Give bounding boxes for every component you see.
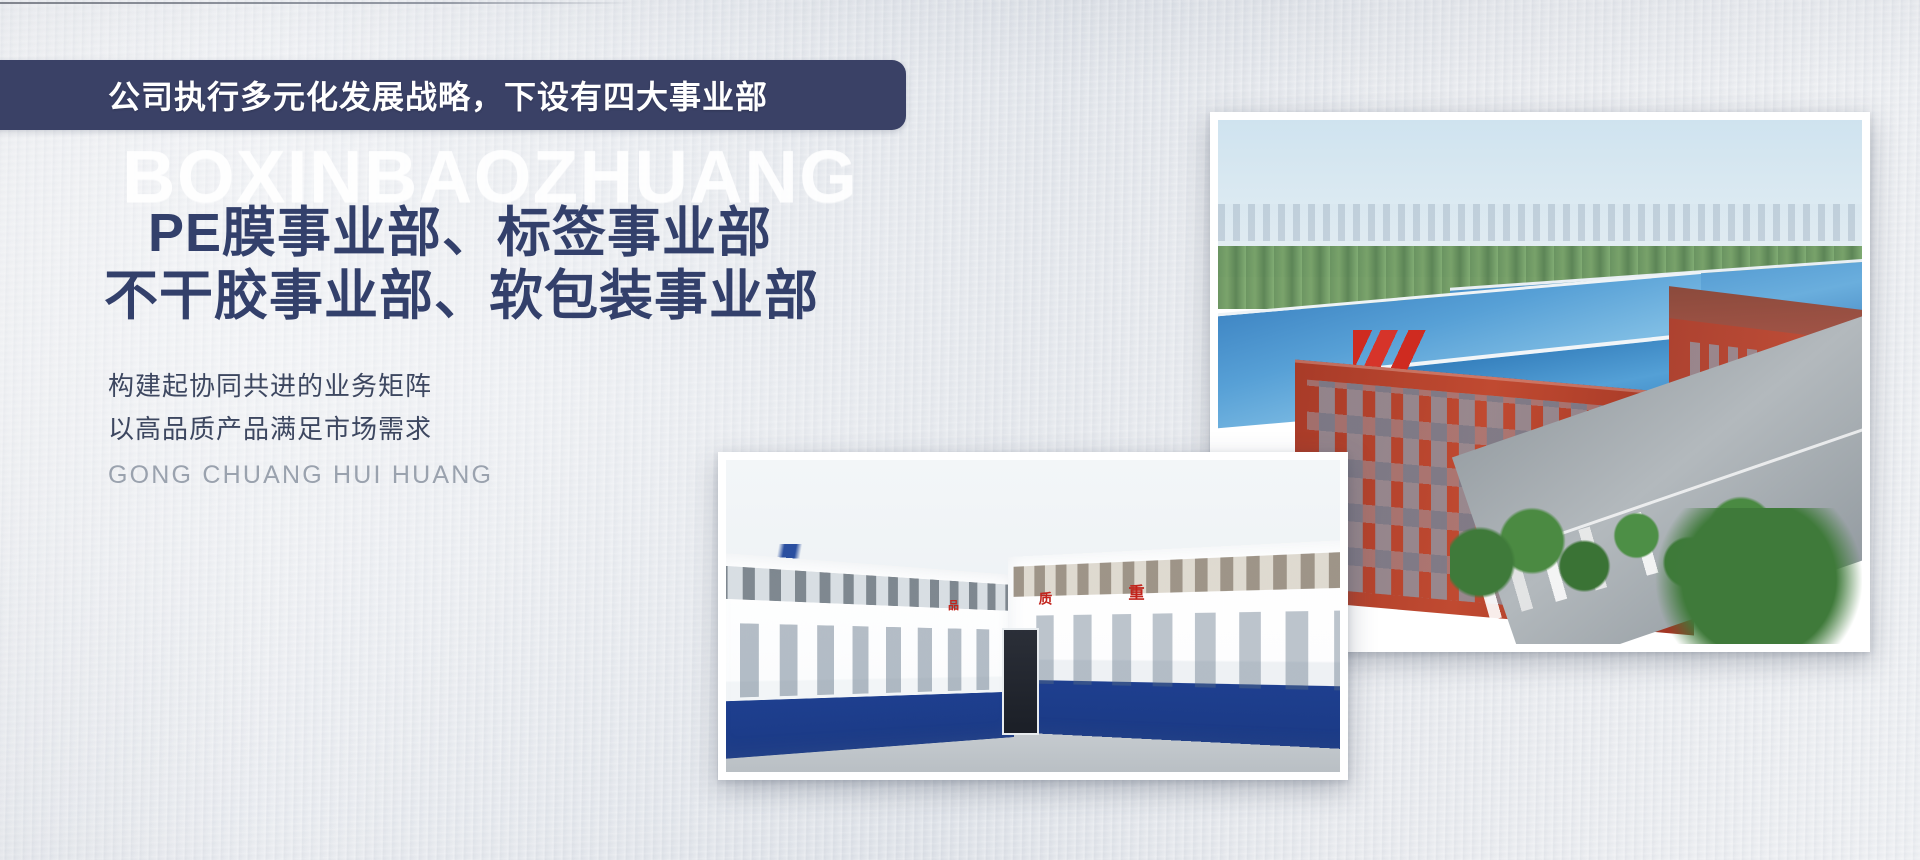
hero-headline: PE膜事业部、标签事业部 不干胶事业部、软包装事业部 [104, 202, 864, 327]
headline-line-1: PE膜事业部、标签事业部 [148, 202, 864, 265]
warehouse-photo-content: 品 质 重 [726, 460, 1340, 772]
workshop-left-facade [726, 552, 1015, 761]
workshop-right-facade [1008, 539, 1340, 750]
trees-bottom-right [1630, 508, 1862, 644]
signage-char-3: 重 [1129, 579, 1145, 603]
signage-char-2: 质 [1038, 587, 1052, 607]
subtitle-line-2: 以高品质产品满足市场需求 [108, 408, 864, 451]
signage-char-1: 品 [948, 596, 959, 612]
city-skyline [1218, 204, 1862, 241]
left-door-row [726, 623, 1007, 697]
facade-signage-characters: 品 质 重 [947, 585, 1143, 629]
photo-warehouse-exterior: 品 质 重 [718, 452, 1348, 780]
corner-entrance-door [1002, 628, 1039, 734]
top-hairline-rule [0, 2, 632, 4]
headline-line-2: 不干胶事业部、软包装事业部 [104, 265, 864, 328]
banner-stage: 公司执行多元化发展战略，下设有四大事业部 BOXINBAOZHUANG PE膜事… [0, 0, 1920, 860]
banner-title: 公司执行多元化发展战略，下设有四大事业部 [108, 72, 768, 118]
subtitle-line-1: 构建起协同共进的业务矩阵 [108, 365, 864, 408]
hero-copy: BOXINBAOZHUANG PE膜事业部、标签事业部 不干胶事业部、软包装事业… [104, 140, 864, 490]
headline-banner: 公司执行多元化发展战略，下设有四大事业部 [0, 60, 906, 130]
